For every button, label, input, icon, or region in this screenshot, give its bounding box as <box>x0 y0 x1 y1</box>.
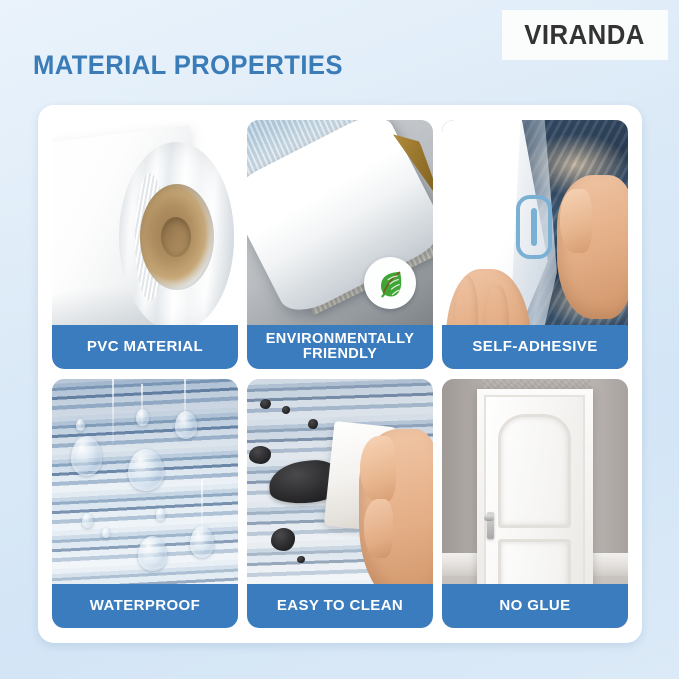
feature-card-no-glue[interactable]: NO GLUE <box>442 379 628 628</box>
feature-card-self-adhesive[interactable]: SELF-ADHESIVE <box>442 120 628 369</box>
feature-card-easy-to-clean[interactable]: EASY TO CLEAN <box>247 379 433 628</box>
card-label-waterproof: WATERPROOF <box>52 584 238 628</box>
card-label-pvc-material: PVC MATERIAL <box>52 325 238 369</box>
door-handle-icon <box>487 512 494 539</box>
card-label-self-adhesive: SELF-ADHESIVE <box>442 325 628 369</box>
feature-panel: PVC MATERIAL ENVIRONMENTALLY FRIENDLY <box>38 105 642 643</box>
card-label-no-glue: NO GLUE <box>442 584 628 628</box>
card-label-easy-to-clean: EASY TO CLEAN <box>247 584 433 628</box>
card-label-environmentally-friendly: ENVIRONMENTALLY FRIENDLY <box>247 325 433 369</box>
feature-card-waterproof[interactable]: WATERPROOF <box>52 379 238 628</box>
page-title: MATERIAL PROPERTIES <box>33 50 343 81</box>
feature-card-pvc-material[interactable]: PVC MATERIAL <box>52 120 238 369</box>
paperclip-icon <box>516 195 552 259</box>
brand-name: VIRANDA <box>525 19 646 51</box>
feature-grid: PVC MATERIAL ENVIRONMENTALLY FRIENDLY <box>52 120 628 628</box>
feature-card-environmentally-friendly[interactable]: ENVIRONMENTALLY FRIENDLY <box>247 120 433 369</box>
brand-logo-box: VIRANDA <box>502 10 668 60</box>
